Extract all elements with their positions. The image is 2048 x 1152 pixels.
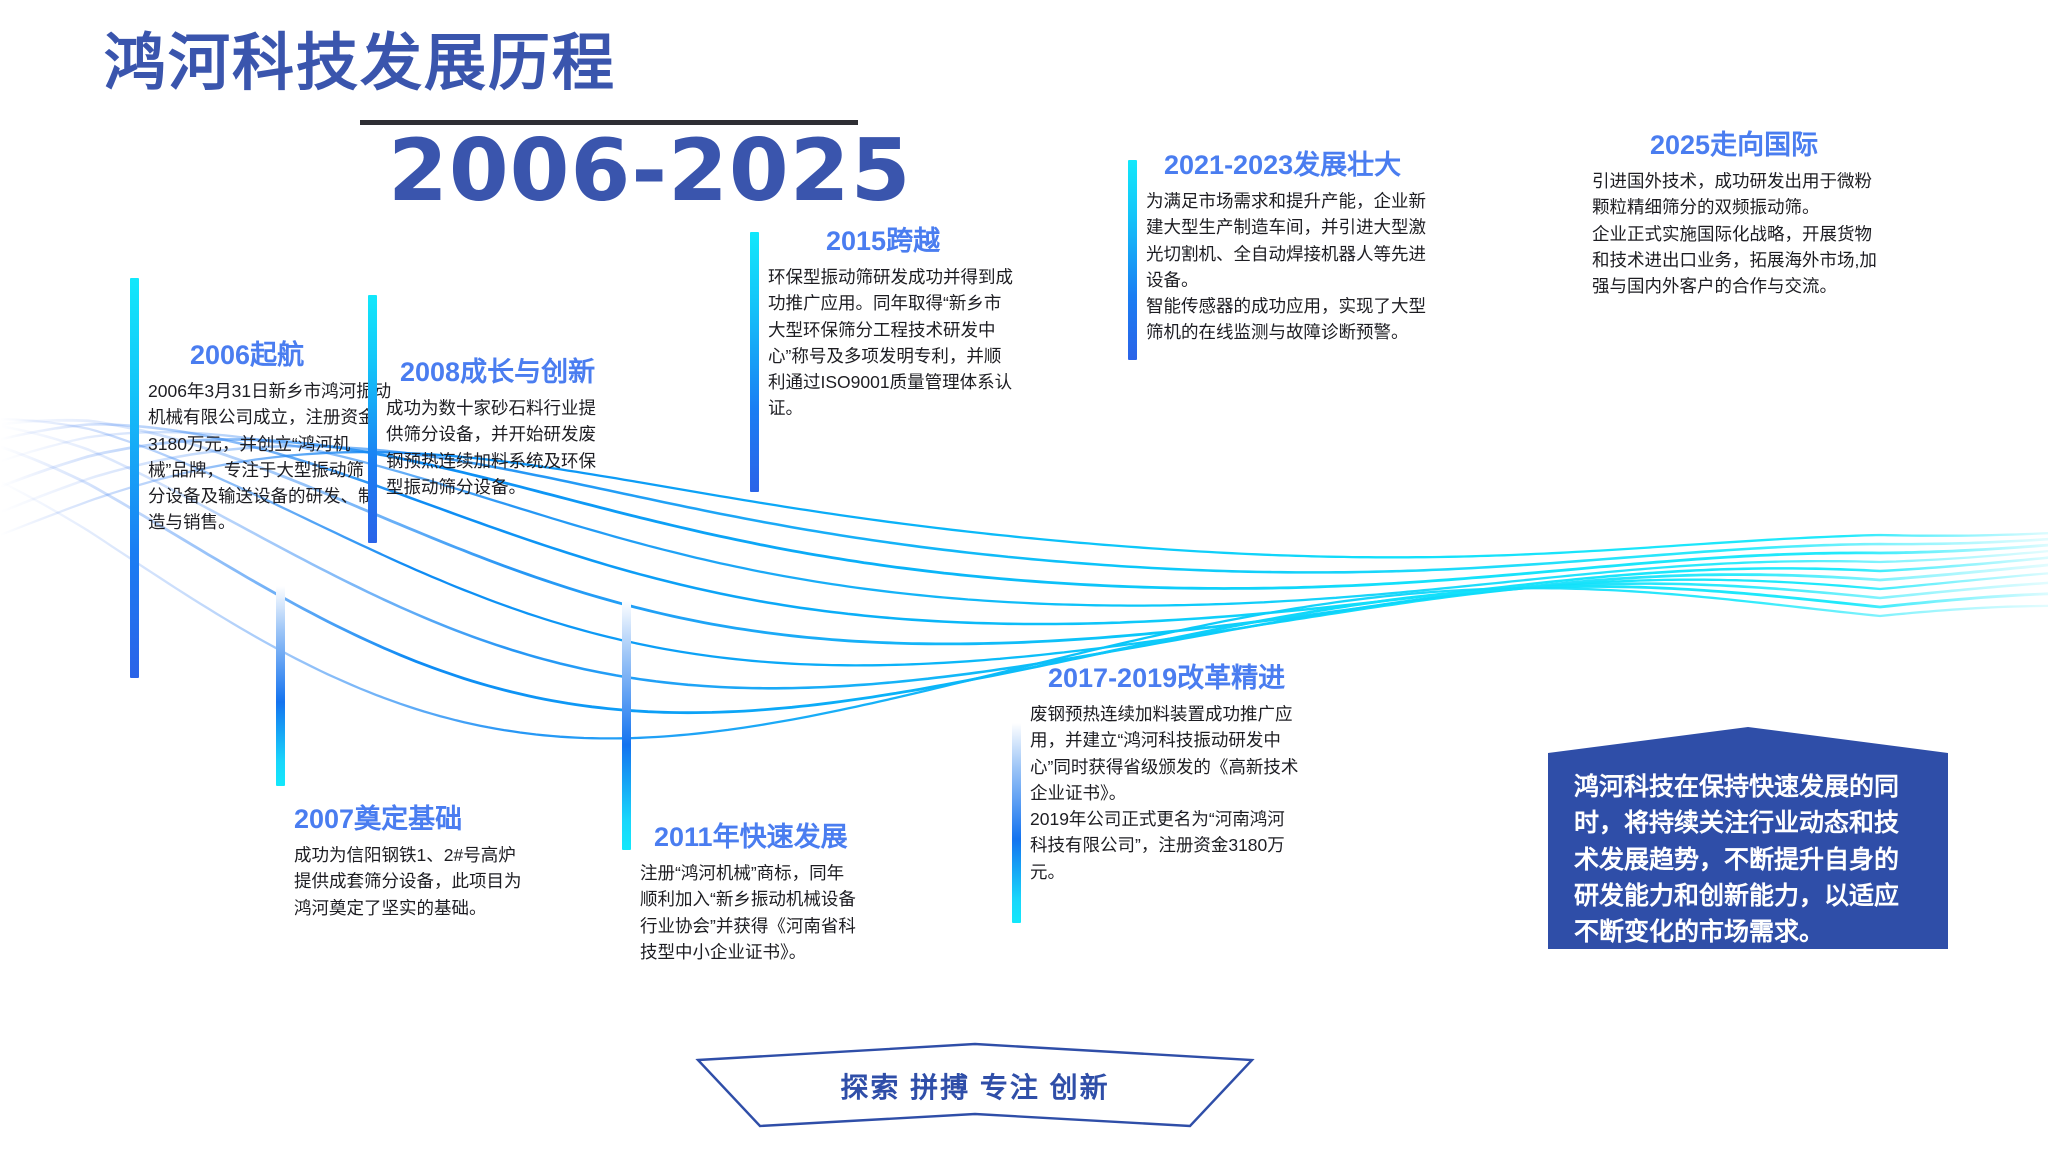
- summary-card: 鸿河科技在保持快速发展的同时，将持续关注行业动态和技术发展趋势，不断提升自身的研…: [1548, 727, 1948, 949]
- milestone-body-line: 注册“鸿河机械”商标，同年: [640, 860, 940, 886]
- milestone-heading: 2011年快速发展: [654, 822, 940, 853]
- milestone-heading: 2017-2019改革精进: [1048, 663, 1380, 694]
- milestone-accent-bar: [750, 232, 759, 492]
- milestone-body-line: 颗粒精细筛分的双频振动筛。: [1592, 194, 1952, 220]
- milestone-body-line: 2019年公司正式更名为“河南鸿河: [1030, 806, 1380, 832]
- milestone-body-line: 钢预热连续加料系统及环保: [386, 448, 666, 474]
- milestone-body-line: 建大型生产制造车间，并引进大型激: [1146, 214, 1486, 240]
- milestone-heading: 2007奠定基础: [294, 804, 594, 835]
- milestone-text-group: 2025走向国际引进国外技术，成功研发出用于微粉颗粒精细筛分的双频振动筛。企业正…: [1592, 130, 1952, 299]
- milestone-body: 成功为数十家砂石料行业提供筛分设备，并开始研发废钢预热连续加料系统及环保型振动筛…: [386, 395, 666, 500]
- milestone-text-group: 2017-2019改革精进废钢预热连续加料装置成功推广应用，并建立“鸿河科技振动…: [1030, 663, 1380, 885]
- milestone-body-line: 型振动筛分设备。: [386, 474, 666, 500]
- milestone-body-line: 利通过ISO9001质量管理体系认: [768, 369, 1088, 395]
- milestone-body: 引进国外技术，成功研发出用于微粉颗粒精细筛分的双频振动筛。企业正式实施国际化战略…: [1592, 168, 1952, 299]
- milestone-body-line: 用，并建立“鸿河科技振动研发中: [1030, 727, 1380, 753]
- milestone-body-line: 成功为信阳钢铁1、2#号高炉: [294, 842, 594, 868]
- milestone-body-line: 大型环保筛分工程技术研发中: [768, 317, 1088, 343]
- milestone-accent-bar: [622, 600, 631, 850]
- milestone-body-line: 成功为数十家砂石料行业提: [386, 395, 666, 421]
- milestone-body-line: 智能传感器的成功应用，实现了大型: [1146, 293, 1486, 319]
- milestone-body-line: 企业正式实施国际化战略，开展货物: [1592, 221, 1952, 247]
- summary-line: 不断变化的市场需求。: [1574, 914, 1926, 950]
- milestone-body-line: 和技术进出口业务，拓展海外市场,加: [1592, 247, 1952, 273]
- milestone-text-group: 2008成长与创新成功为数十家砂石料行业提供筛分设备，并开始研发废钢预热连续加料…: [386, 357, 666, 500]
- milestone-body-line: 引进国外技术，成功研发出用于微粉: [1592, 168, 1952, 194]
- milestone-body-line: 设备。: [1146, 267, 1486, 293]
- slogan-text: 探索 拼搏 专注 创新: [690, 1066, 1260, 1106]
- milestone-body-line: 顺利加入“新乡振动机械设备: [640, 886, 940, 912]
- milestone-body-line: 造与销售。: [148, 509, 448, 535]
- milestone-body-line: 科技有限公司”，注册资金3180万: [1030, 832, 1380, 858]
- milestone-body-line: 功推广应用。同年取得“新乡市: [768, 290, 1088, 316]
- summary-line: 鸿河科技在保持快速发展的同: [1574, 769, 1926, 805]
- milestone-body-line: 行业协会”并获得《河南省科: [640, 913, 940, 939]
- milestone-heading: 2015跨越: [826, 226, 1088, 257]
- milestone-body-line: 光切割机、全自动焊接机器人等先进: [1146, 241, 1486, 267]
- milestone-body-line: 为满足市场需求和提升产能，企业新: [1146, 188, 1486, 214]
- milestone-body-line: 鸿河奠定了坚实的基础。: [294, 895, 594, 921]
- summary-line: 研发能力和创新能力，以适应: [1574, 878, 1926, 914]
- milestone-body-line: 供筛分设备，并开始研发废: [386, 421, 666, 447]
- milestone-accent-bar: [368, 295, 377, 543]
- milestone-body-line: 强与国内外客户的合作与交流。: [1592, 273, 1952, 299]
- milestone-body-line: 环保型振动筛研发成功并得到成: [768, 264, 1088, 290]
- summary-line: 术发展趋势，不断提升自身的: [1574, 842, 1926, 878]
- infographic-canvas: 鸿河科技发展历程 2006-2025 2006起航2006年3月31日新乡市鸿河…: [0, 0, 2048, 1152]
- milestone-body: 成功为信阳钢铁1、2#号高炉提供成套筛分设备，此项目为鸿河奠定了坚实的基础。: [294, 842, 594, 921]
- milestone-body-line: 证。: [768, 395, 1088, 421]
- milestone-body-line: 心”同时获得省级颁发的《高新技术: [1030, 754, 1380, 780]
- milestone-body-line: 技型中小企业证书》。: [640, 939, 940, 965]
- summary-line: 时，将持续关注行业动态和技: [1574, 805, 1926, 841]
- milestone-body-line: 心”称号及多项发明专利，并顺: [768, 343, 1088, 369]
- milestone-text-group: 2011年快速发展注册“鸿河机械”商标，同年顺利加入“新乡振动机械设备行业协会”…: [640, 822, 940, 965]
- milestone-accent-bar: [1128, 160, 1137, 360]
- milestone-body: 环保型振动筛研发成功并得到成功推广应用。同年取得“新乡市大型环保筛分工程技术研发…: [768, 264, 1088, 422]
- milestone-body-line: 企业证书》。: [1030, 780, 1380, 806]
- milestone-accent-bar: [276, 586, 285, 786]
- milestone-body: 为满足市场需求和提升产能，企业新建大型生产制造车间，并引进大型激光切割机、全自动…: [1146, 188, 1486, 346]
- milestone-text-group: 2015跨越环保型振动筛研发成功并得到成功推广应用。同年取得“新乡市大型环保筛分…: [768, 226, 1088, 422]
- page-title-years: 2006-2025: [388, 128, 911, 214]
- milestone-text-group: 2021-2023发展壮大为满足市场需求和提升产能，企业新建大型生产制造车间，并…: [1146, 150, 1486, 346]
- milestone-body-line: 元。: [1030, 859, 1380, 885]
- milestone-body-line: 废钢预热连续加料装置成功推广应: [1030, 701, 1380, 727]
- milestone-accent-bar: [130, 278, 139, 678]
- milestone-heading: 2008成长与创新: [400, 357, 666, 388]
- milestone-heading: 2021-2023发展壮大: [1164, 150, 1486, 181]
- milestone-heading: 2025走向国际: [1650, 130, 1952, 161]
- summary-card-text: 鸿河科技在保持快速发展的同时，将持续关注行业动态和技术发展趋势，不断提升自身的研…: [1574, 769, 1926, 950]
- milestone-body: 废钢预热连续加料装置成功推广应用，并建立“鸿河科技振动研发中心”同时获得省级颁发…: [1030, 701, 1380, 885]
- milestone-body-line: 筛机的在线监测与故障诊断预警。: [1146, 319, 1486, 345]
- milestone-body: 注册“鸿河机械”商标，同年顺利加入“新乡振动机械设备行业协会”并获得《河南省科技…: [640, 860, 940, 965]
- milestone-body-line: 提供成套筛分设备，此项目为: [294, 868, 594, 894]
- page-title: 鸿河科技发展历程: [104, 30, 616, 98]
- milestone-text-group: 2007奠定基础成功为信阳钢铁1、2#号高炉提供成套筛分设备，此项目为鸿河奠定了…: [294, 804, 594, 921]
- slogan-ribbon: 探索 拼搏 专注 创新: [690, 1030, 1260, 1140]
- milestone-accent-bar: [1012, 723, 1021, 923]
